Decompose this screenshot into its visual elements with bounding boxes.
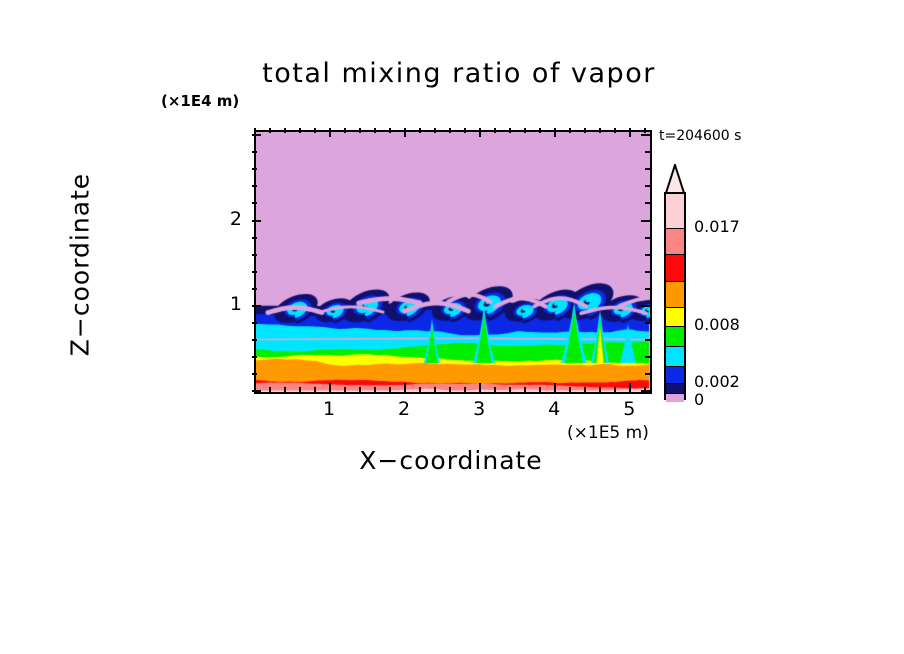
colorbar-tick-label: 0.002 [694,372,740,391]
x-tick-top [629,128,631,137]
y-tick-label: 1 [202,293,242,315]
x-tick [284,387,286,392]
x-axis-label: X−coordinate [254,446,648,475]
y-tick-right [645,185,650,187]
x-tick [299,387,301,392]
y-tick [252,288,257,290]
x-tick-top [569,128,571,133]
x-tick [629,383,631,392]
colorbar-tick-label: 0.008 [694,315,740,334]
x-tick [584,387,586,392]
y-tick [252,254,257,256]
x-tick [539,387,541,392]
colorbar-band [666,347,684,367]
x-tick [419,387,421,392]
x-tick [464,387,466,392]
x-tick-top [509,128,511,133]
x-tick-top [269,128,271,133]
y-tick [252,151,257,153]
colorbar-band [666,308,684,326]
x-tick [329,383,331,392]
timestamp-annotation: t=204600 s [659,128,741,144]
y-tick [252,134,261,136]
x-tick [569,387,571,392]
y-tick-right [645,202,650,204]
colorbar-band [666,394,684,402]
x-tick-top [614,128,616,133]
y-tick [252,339,257,341]
x-tick [554,383,556,392]
x-tick-top [554,128,556,137]
colorbar-bands [664,192,686,400]
colorbar-arrow-cap [664,164,686,194]
x-tick [449,387,451,392]
x-tick-label: 2 [384,398,424,420]
y-tick-right [645,339,650,341]
x-tick-top [494,128,496,133]
x-tick-top [434,128,436,133]
figure-canvas: total mixing ratio of vapor (×1E4 m) t=2… [0,0,904,654]
x-tick-top [329,128,331,137]
y-tick-label: 2 [202,208,242,230]
y-tick-right [645,322,650,324]
y-tick [252,322,257,324]
y-tick-right [645,373,650,375]
vapor-mixing-ratio-field [256,132,650,392]
y-tick [252,220,261,222]
y-axis-label: Z−coordinate [66,100,95,430]
x-tick-top [599,128,601,133]
x-axis-unit-label: (×1E5 m) [567,423,649,443]
colorbar-tick-label: 0 [694,390,704,409]
contour-plot-area [254,130,652,394]
y-tick-right [645,254,650,256]
y-tick-right [641,220,650,222]
y-tick [252,356,257,358]
x-tick-top [389,128,391,133]
colorbar-band [666,255,684,282]
x-tick-top [374,128,376,133]
y-tick [252,373,257,375]
x-tick [344,387,346,392]
x-tick [479,383,481,392]
y-tick-right [645,271,650,273]
x-tick [374,387,376,392]
colorbar-band [666,194,684,229]
colorbar-band [666,367,684,383]
y-tick [252,237,257,239]
x-tick [524,387,526,392]
x-tick-top [404,128,406,137]
y-tick [252,168,257,170]
x-tick-top [584,128,586,133]
colorbar-band [666,282,684,309]
x-tick [494,387,496,392]
y-tick-right [645,288,650,290]
y-tick [252,202,257,204]
x-tick-label: 1 [309,398,349,420]
colorbar-band [666,327,684,347]
y-tick [252,185,257,187]
x-tick-top [344,128,346,133]
x-tick-top [464,128,466,133]
x-tick-top [314,128,316,133]
x-tick [614,387,616,392]
y-tick-right [641,390,650,392]
x-tick-label: 4 [534,398,574,420]
x-tick [314,387,316,392]
colorbar-tick-label: 0.017 [694,217,740,236]
x-tick-top [644,128,646,133]
x-tick-top [524,128,526,133]
y-tick [252,271,257,273]
x-tick [599,387,601,392]
x-tick-top [359,128,361,133]
x-tick-label: 3 [459,398,499,420]
y-axis-unit-label: (×1E4 m) [161,92,239,110]
x-tick-top [284,128,286,133]
x-tick [509,387,511,392]
x-tick-top [479,128,481,137]
y-tick-right [641,134,650,136]
y-tick-right [645,356,650,358]
x-tick-top [539,128,541,133]
x-tick [389,387,391,392]
y-tick [252,390,261,392]
page-title: total mixing ratio of vapor [249,58,669,89]
y-tick [252,305,261,307]
x-tick-top [299,128,301,133]
y-tick-right [645,151,650,153]
x-tick-top [419,128,421,133]
x-tick [434,387,436,392]
x-tick [404,383,406,392]
x-tick [269,387,271,392]
x-tick [359,387,361,392]
x-tick-top [449,128,451,133]
y-tick-right [645,237,650,239]
colorbar-band [666,229,684,256]
y-tick-right [641,305,650,307]
y-tick-right [645,168,650,170]
x-tick-label: 5 [609,398,649,420]
